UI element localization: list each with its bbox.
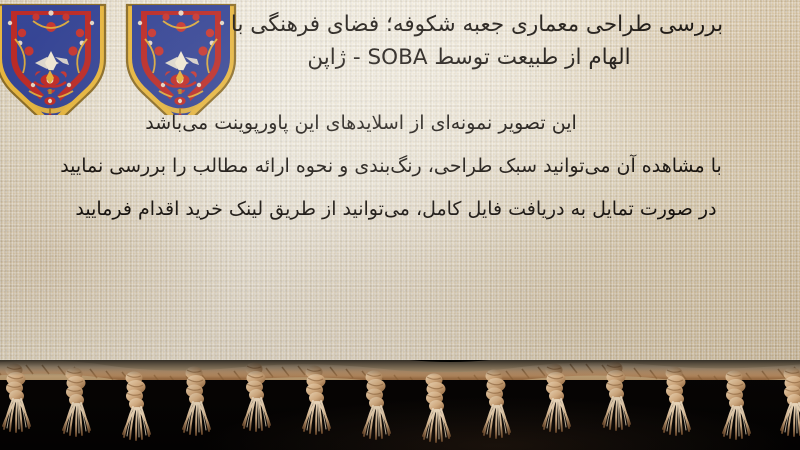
body-line-1: این تصویر نمونه‌ای از اسلایدهای این پاور… (0, 112, 800, 134)
tassel-fringe (0, 360, 800, 450)
slide-title: بررسی طراحی معماری جعبه شکوفه؛ فضای فرهن… (172, 8, 782, 74)
slide-body: این تصویر نمونه‌ای از اسلایدهای این پاور… (0, 112, 800, 241)
body-line-3: در صورت تمایل به دریافت فایل کامل، می‌تو… (0, 198, 800, 220)
title-line-2: الهام از طبیعت توسط SOBA - ژاپن (172, 41, 782, 74)
body-line-2: با مشاهده آن می‌توانید سبک طراحی، رنگ‌بن… (0, 155, 800, 177)
slide-canvas: بررسی طراحی معماری جعبه شکوفه؛ فضای فرهن… (0, 0, 800, 450)
title-line-1: بررسی طراحی معماری جعبه شکوفه؛ فضای فرهن… (172, 8, 782, 41)
carpet-bottom-band (0, 360, 800, 450)
